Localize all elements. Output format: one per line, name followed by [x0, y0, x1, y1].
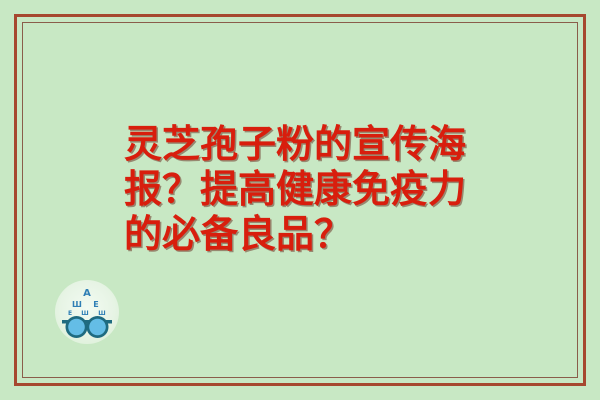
eye-chart-letter-row3-left: Е [68, 310, 72, 317]
eyeglasses-eye-chart-badge: А Ш Е Е Ш Ш [55, 280, 119, 344]
eye-chart-letter-row3-right: Ш [98, 310, 105, 317]
eye-chart-letter-row3-mid: Ш [81, 310, 88, 317]
poster-canvas: 灵芝孢子粉的宣传海报？提高健康免疫力的必备良品？ А Ш Е Е Ш Ш [0, 0, 600, 400]
eye-chart-letter-row1: А [83, 288, 91, 299]
glasses-right-lens-icon [89, 319, 106, 336]
eye-chart-letter-row2-left: Ш [72, 300, 82, 309]
eye-chart-letter-row2-right: Е [93, 300, 98, 309]
glasses-left-lens-icon [68, 319, 85, 336]
poster-headline: 灵芝孢子粉的宣传海报？提高健康免疫力的必备良品？ [124, 122, 494, 257]
